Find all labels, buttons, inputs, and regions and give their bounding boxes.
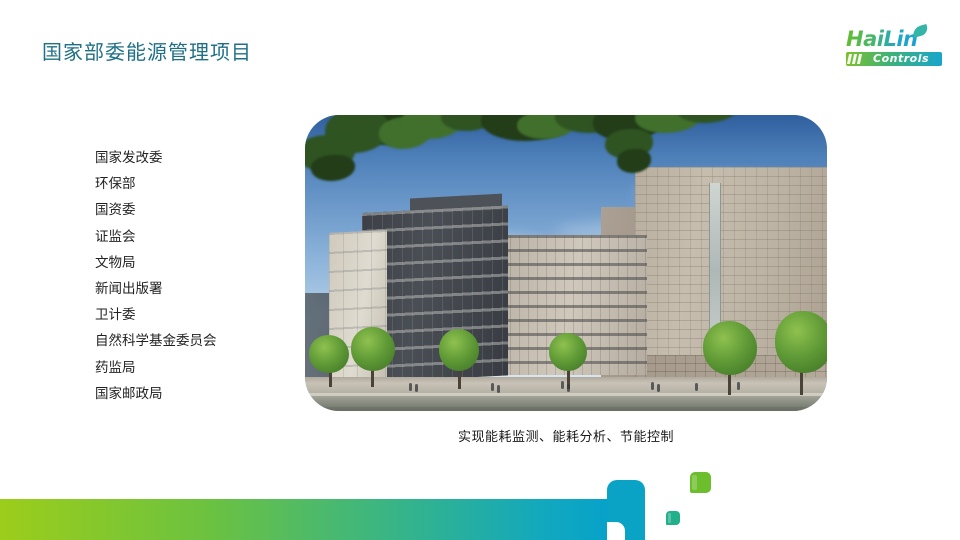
tree (351, 327, 395, 371)
pedestrian (695, 383, 698, 391)
brand-wordmark: HaiLin (846, 27, 917, 51)
tree (439, 329, 479, 371)
building-photo (305, 115, 827, 411)
organization-list: 国家发改委 环保部 国资委 证监会 文物局 新闻出版署 卫计委 自然科学基金委员… (95, 145, 295, 407)
pedestrian (567, 384, 570, 392)
bars-icon (848, 54, 868, 64)
road-band (305, 407, 827, 411)
list-item: 新闻出版署 (95, 276, 295, 302)
pedestrian (497, 385, 500, 393)
tree (775, 311, 827, 373)
tree (309, 335, 349, 373)
pedestrian (415, 384, 418, 392)
photo-caption: 实现能耗监测、能耗分析、节能控制 (305, 426, 827, 445)
list-item: 环保部 (95, 171, 295, 197)
footer-hook-notch (607, 522, 625, 540)
kerb-line (305, 393, 827, 396)
list-item: 药监局 (95, 355, 295, 381)
footer-square-teal (666, 511, 680, 525)
list-item: 证监会 (95, 224, 295, 250)
list-item: 国家邮政局 (95, 381, 295, 407)
pedestrian (651, 382, 654, 390)
tree (703, 321, 757, 375)
footer-square-green (690, 472, 711, 493)
brand-subtitle: Controls (873, 52, 929, 66)
pedestrian (737, 382, 740, 390)
footer-gradient-bar (0, 499, 607, 540)
list-item: 文物局 (95, 250, 295, 276)
pedestrian (409, 383, 412, 391)
slide-canvas: 国家部委能源管理项目 HaiLin Controls 国家发改委 环保部 国资委… (0, 0, 960, 540)
list-item: 自然科学基金委员会 (95, 328, 295, 354)
tree (549, 333, 587, 371)
pedestrian (491, 383, 494, 391)
list-item: 国资委 (95, 197, 295, 223)
list-item: 国家发改委 (95, 145, 295, 171)
list-item: 卫计委 (95, 302, 295, 328)
pedestrian (657, 384, 660, 392)
pedestrian (561, 381, 564, 389)
brand-logo: HaiLin Controls (838, 27, 942, 69)
page-title: 国家部委能源管理项目 (42, 38, 252, 66)
